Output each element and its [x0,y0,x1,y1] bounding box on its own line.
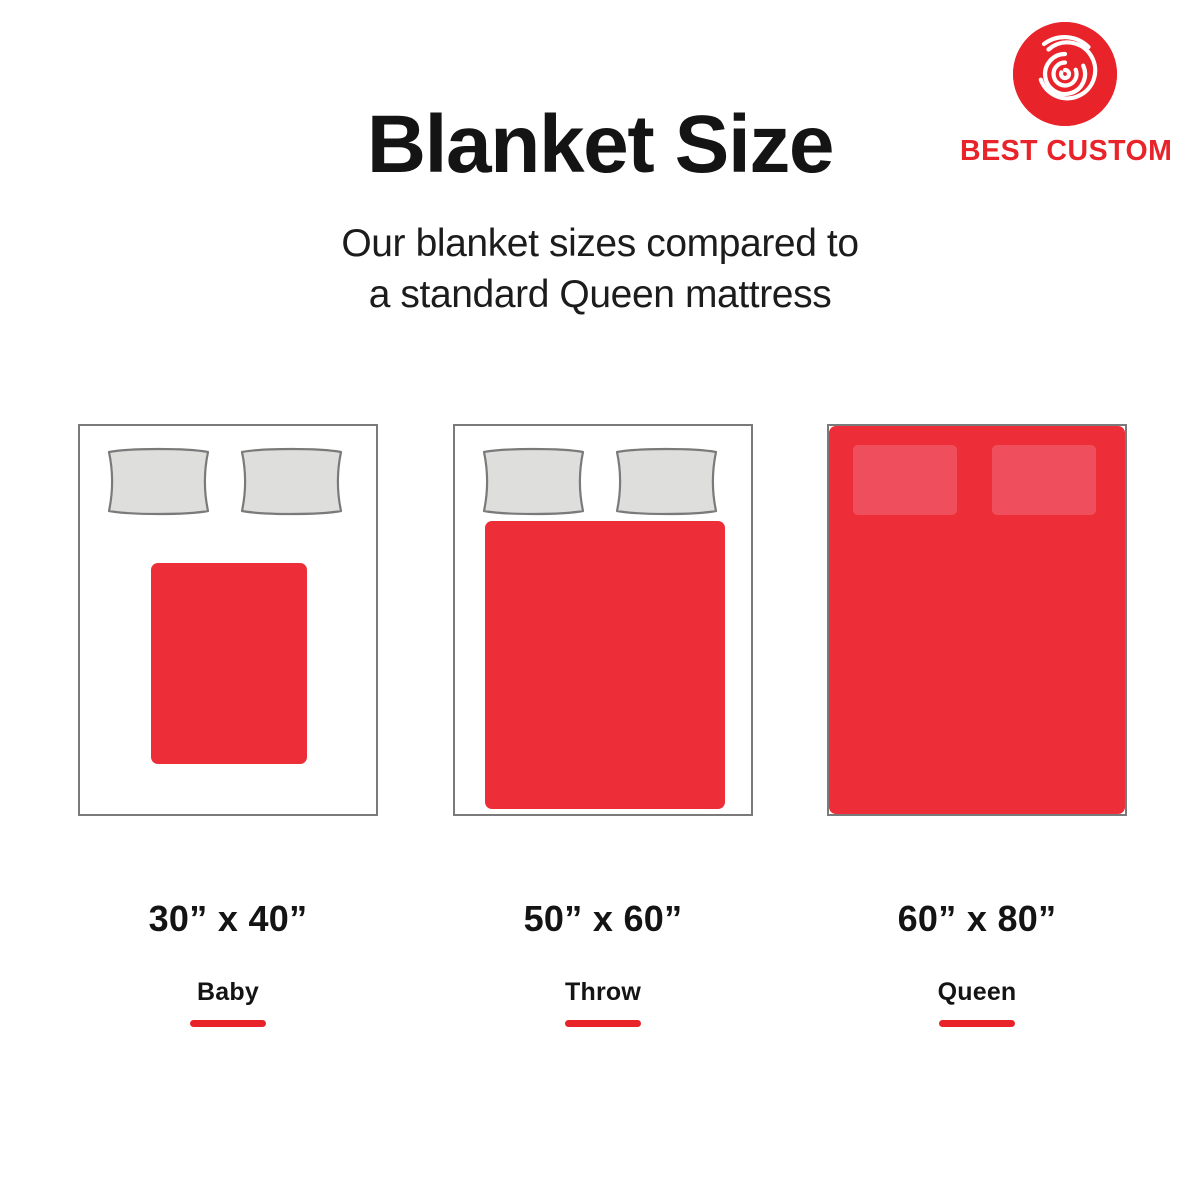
header-block: Blanket Size Our blanket sizes compared … [0,104,1200,321]
pillow-icon [105,447,212,516]
accent-underline [939,1020,1015,1027]
blanket-shape-baby [151,563,307,764]
pillow-icon [480,447,587,516]
size-dimensions: 50” x 60” [453,898,753,940]
bed-diagram-baby [78,424,378,816]
size-dimensions: 60” x 80” [827,898,1127,940]
bed-comparison-row [0,424,1200,818]
subtitle-line-2: a standard Queen mattress [0,269,1200,320]
subtitle-line-1: Our blanket sizes compared to [0,218,1200,269]
pillow-icon [238,447,345,516]
pillow-icon [613,447,720,516]
accent-underline [190,1020,266,1027]
blanket-shape-queen [829,426,1125,814]
page-subtitle: Our blanket sizes compared to a standard… [0,218,1200,321]
blanket-shape-throw [485,521,725,809]
size-name: Baby [78,978,378,1007]
bed-diagram-throw [453,424,753,816]
pillow-icon [992,445,1096,515]
caption-baby: 30” x 40” Baby [78,898,378,1027]
pillow-icon [853,445,957,515]
infographic-canvas: BEST CUSTOM Blanket Size Our blanket siz… [0,0,1200,1200]
size-name: Queen [827,978,1127,1007]
page-title: Blanket Size [0,104,1200,186]
caption-queen: 60” x 80” Queen [827,898,1127,1027]
caption-throw: 50” x 60” Throw [453,898,753,1027]
size-dimensions: 30” x 40” [78,898,378,940]
size-name: Throw [453,978,753,1007]
bed-diagram-queen [827,424,1127,816]
accent-underline [565,1020,641,1027]
caption-row: 30” x 40” Baby 50” x 60” Throw 60” x 80”… [0,898,1200,1058]
